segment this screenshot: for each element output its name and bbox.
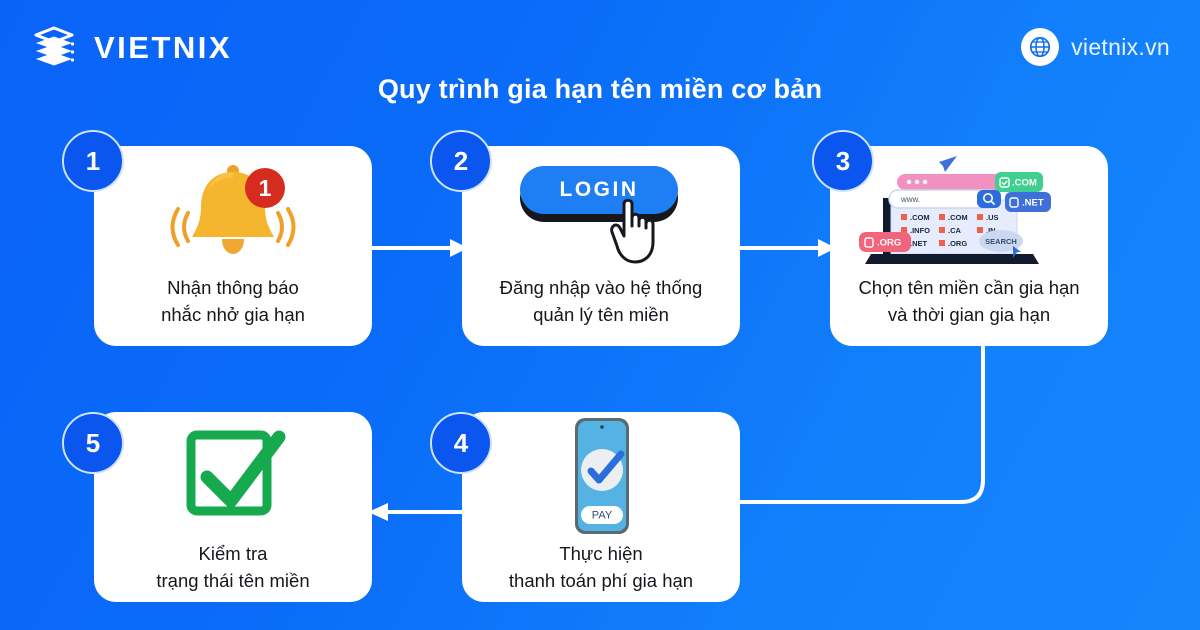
domain-search-laptop-icon: .COM www. .NET	[853, 148, 1085, 272]
svg-text:.INFO: .INFO	[910, 226, 930, 235]
step-1-illustration: 1	[94, 146, 372, 274]
hand-cursor-icon	[606, 194, 666, 266]
step-badge-1: 1	[62, 130, 124, 192]
svg-text:.COM: .COM	[910, 213, 930, 222]
step-2-illustration: LOGIN	[462, 146, 740, 274]
step-badge-4: 4	[430, 412, 492, 474]
step-5-line-1: Kiểm tra	[156, 540, 309, 567]
step-card-5[interactable]: Kiểm tra trạng thái tên miền	[94, 412, 372, 602]
step-card-4[interactable]: PAY Thực hiện thanh toán phí gia hạn	[462, 412, 740, 602]
step-5-line-2: trạng thái tên miền	[156, 567, 309, 594]
step-card-2[interactable]: LOGIN Đăng nhập vào hệ thống quản lý tên…	[462, 146, 740, 346]
login-button-cursor-icon: LOGIN	[506, 150, 696, 270]
connector-step3-to-step4	[700, 330, 1010, 520]
step-1-line-1: Nhận thông báo	[161, 274, 305, 301]
step-1-text: Nhận thông báo nhắc nhở gia hạn	[149, 274, 317, 329]
step-2-text: Đăng nhập vào hệ thống quản lý tên miền	[488, 274, 715, 329]
connector-step2-to-step3	[736, 236, 836, 260]
svg-text:.COM: .COM	[1012, 178, 1037, 189]
svg-text:.US: .US	[986, 213, 999, 222]
svg-text:.CA: .CA	[948, 226, 962, 235]
step-4-text: Thực hiện thanh toán phí gia hạn	[497, 540, 705, 595]
checkbox-checked-icon	[173, 421, 293, 531]
website-url-label: vietnix.vn	[1071, 34, 1170, 61]
step-2-line-1: Đăng nhập vào hệ thống	[500, 274, 703, 301]
bell-notification-icon: 1	[158, 155, 308, 265]
step-5-illustration	[94, 412, 372, 540]
svg-text:.NET: .NET	[910, 239, 928, 248]
globe-icon	[1021, 28, 1059, 66]
step-5-text: Kiểm tra trạng thái tên miền	[144, 540, 321, 595]
stacked-layers-icon	[28, 22, 80, 74]
website-url[interactable]: vietnix.vn	[1021, 28, 1170, 66]
step-card-3[interactable]: .COM www. .NET	[830, 146, 1108, 346]
brand-logo: VIETNIX	[28, 22, 232, 74]
step-badge-5: 5	[62, 412, 124, 474]
step-4-line-1: Thực hiện	[509, 540, 693, 567]
step-4-illustration: PAY	[462, 412, 740, 540]
step-1-line-2: nhắc nhở gia hạn	[161, 301, 305, 328]
step-badge-3: 3	[812, 130, 874, 192]
svg-text:.ORG: .ORG	[877, 238, 901, 249]
connector-step1-to-step2	[368, 236, 468, 260]
svg-text:1: 1	[259, 175, 272, 201]
svg-text:SEARCH: SEARCH	[985, 237, 1017, 246]
step-badge-2: 2	[430, 130, 492, 192]
connector-step4-to-step5	[364, 500, 472, 524]
step-3-line-1: Chọn tên miền cần gia hạn	[858, 274, 1079, 301]
infographic-canvas: VIETNIX vietnix.vn Quy trình gia hạn tên…	[0, 0, 1200, 630]
brand-name: VIETNIX	[94, 30, 232, 66]
mobile-payment-icon: PAY	[541, 414, 661, 538]
step-2-line-2: quản lý tên miền	[500, 301, 703, 328]
pay-label: PAY	[592, 510, 613, 522]
step-4-line-2: thanh toán phí gia hạn	[509, 567, 693, 594]
page-title: Quy trình gia hạn tên miền cơ bản	[0, 74, 1200, 105]
step-card-1[interactable]: 1 Nhận thông báo nhắc nhở gia hạn	[94, 146, 372, 346]
step-3-line-2: và thời gian gia hạn	[858, 301, 1079, 328]
step-3-text: Chọn tên miền cần gia hạn và thời gian g…	[846, 274, 1091, 329]
svg-text:.COM: .COM	[948, 213, 968, 222]
svg-text:www.: www.	[900, 195, 920, 204]
svg-text:.NET: .NET	[1022, 198, 1044, 209]
svg-text:.ORG: .ORG	[948, 239, 967, 248]
